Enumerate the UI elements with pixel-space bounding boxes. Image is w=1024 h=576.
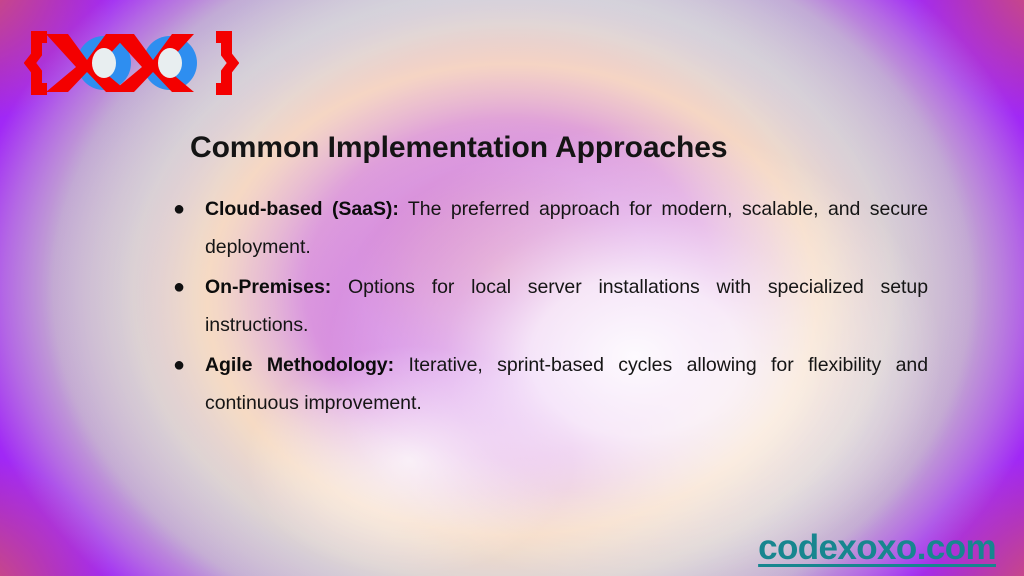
list-item-lead: Cloud-based (SaaS): [205,198,399,220]
bullet-point-icon: ● [168,346,205,384]
list-item-lead: Agile Methodology: [205,354,394,376]
list-item-lead: On-Premises: [205,276,331,298]
bullet-point-icon: ● [168,190,205,228]
list-item: ● Agile Methodology: Iterative, sprint-b… [168,346,928,422]
brand-logo-xoxo[interactable] [24,24,239,102]
bullet-point-icon: ● [168,268,205,306]
page-title: Common Implementation Approaches [190,131,890,165]
list-item-text: On-Premises: Options for local server in… [205,268,928,344]
watermark-link-codexoxo[interactable]: codexoxo.com [758,528,996,568]
slide-canvas: Common Implementation Approaches ● Cloud… [0,0,1024,576]
bullet-list: ● Cloud-based (SaaS): The preferred appr… [168,190,928,424]
list-item-text: Cloud-based (SaaS): The preferred approa… [205,190,928,266]
list-item-text: Agile Methodology: Iterative, sprint-bas… [205,346,928,422]
list-item: ● Cloud-based (SaaS): The preferred appr… [168,190,928,266]
list-item: ● On-Premises: Options for local server … [168,268,928,344]
